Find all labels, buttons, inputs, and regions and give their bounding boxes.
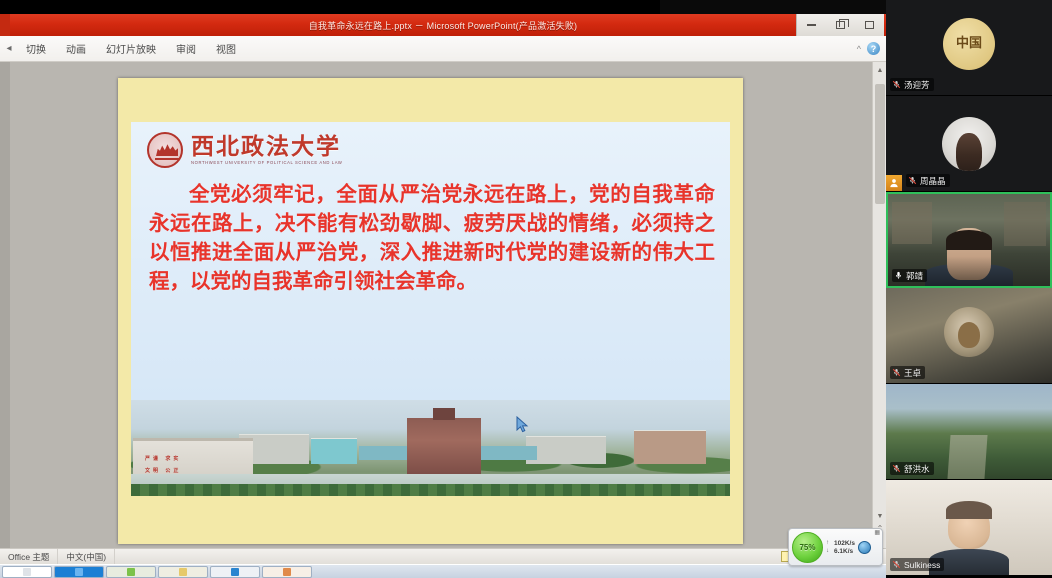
network-settings-button[interactable]	[858, 541, 871, 554]
scrollbar-thumb[interactable]	[875, 84, 885, 204]
ribbon-scroll-left-icon[interactable]: ◂	[0, 43, 16, 54]
campus-motto-line-1: 严谨 求实	[145, 455, 181, 462]
minimize-button[interactable]	[801, 17, 823, 33]
window-top-edge-right	[660, 0, 886, 14]
university-name-en: NORTHWEST UNIVERSITY OF POLITICAL SCIENC…	[191, 160, 342, 165]
university-logo: 西北政法大学 NORTHWEST UNIVERSITY OF POLITICAL…	[147, 132, 342, 168]
muted-mic-icon	[892, 368, 901, 377]
participant-name-chip-2: 周晶晶	[906, 174, 950, 187]
title-bar[interactable]: 自我革命永远在路上.pptx － Microsoft PowerPoint(产品…	[0, 14, 886, 36]
network-rates: ↑ 102K/s ↓ 6.1K/s	[826, 540, 855, 555]
cpu-usage-gauge: 75%	[792, 532, 823, 563]
participant-name-chip-1: 汤迎芳	[890, 78, 934, 91]
video-participant-panel: 中国 汤迎芳	[886, 0, 1052, 578]
campus-main-gate	[407, 418, 481, 474]
windows-taskbar	[0, 564, 886, 578]
participant-name-5: 舒洪水	[904, 463, 930, 475]
download-rate-row: ↓ 6.1K/s	[826, 548, 855, 555]
participant-name-1: 汤迎芳	[904, 79, 930, 91]
tab-slideshow[interactable]: 幻灯片放映	[96, 38, 166, 59]
help-icon[interactable]: ?	[867, 42, 880, 55]
video-tile-participant-6[interactable]: Sulkiness	[886, 480, 1052, 576]
upload-arrow-icon: ↑	[826, 540, 831, 546]
campus-building-3	[526, 436, 606, 464]
participant-name-chip-3: 郭靖	[892, 269, 927, 282]
participant-hair	[946, 501, 992, 519]
taskbar-item-1[interactable]	[2, 566, 52, 578]
status-language[interactable]: 中文(中国)	[58, 549, 115, 565]
title-bar-left-accent	[0, 14, 10, 36]
ribbon-right-controls: ^ ?	[857, 42, 886, 55]
pin-icon[interactable]: ▦	[874, 529, 880, 536]
window-title: 自我革命永远在路上.pptx － Microsoft PowerPoint(产品…	[309, 19, 578, 32]
upload-rate-row: ↑ 102K/s	[826, 540, 855, 547]
dog-avatar	[944, 307, 994, 357]
restore-button[interactable]	[830, 17, 852, 33]
participant-name-4: 王卓	[904, 367, 921, 379]
taskbar-item-3[interactable]	[106, 566, 156, 578]
system-monitor-widget[interactable]: ▦ 75% ↑ 102K/s ↓ 6.1K/s	[788, 528, 883, 566]
download-arrow-icon: ↓	[826, 548, 831, 554]
scroll-down-icon[interactable]: ▼	[875, 512, 885, 522]
host-badge-icon	[886, 175, 902, 191]
scroll-up-icon[interactable]: ▲	[875, 66, 885, 76]
person-icon	[889, 178, 899, 188]
thumbnail-pane-edge	[0, 62, 10, 548]
woman-photo-avatar	[942, 117, 996, 171]
screen: 自我革命永远在路上.pptx － Microsoft PowerPoint(产品…	[0, 0, 1052, 578]
campus-motto-line-2: 文明 公正	[145, 467, 181, 474]
participant-name-6: Sulkiness	[904, 560, 940, 570]
status-bar: Office 主题 中文(中国) 85%	[0, 548, 886, 564]
muted-mic-icon	[892, 464, 901, 473]
status-theme[interactable]: Office 主题	[0, 549, 58, 565]
video-tile-participant-5[interactable]: 舒洪水	[886, 384, 1052, 480]
close-button[interactable]	[859, 17, 881, 33]
vertical-scrollbar[interactable]: ▲ ▼ ⌃ ⌄	[872, 62, 886, 548]
window-top-edge	[0, 0, 886, 14]
video-tile-participant-3[interactable]: 郭靖	[886, 192, 1052, 288]
participant-name-chip-4: 王卓	[890, 366, 925, 379]
taskbar-item-6[interactable]	[262, 566, 312, 578]
taskbar-item-4[interactable]	[158, 566, 208, 578]
participant-name-3: 郭靖	[906, 270, 923, 282]
campus-building-2	[311, 438, 357, 464]
video-tile-participant-1[interactable]: 中国 汤迎芳	[886, 0, 1052, 96]
tab-view[interactable]: 视图	[206, 38, 246, 59]
muted-mic-icon	[908, 176, 917, 185]
speaker-hair	[946, 230, 992, 250]
slide-body-text: 全党必须牢记，全面从严治党永远在路上，党的自我革命永远在路上，决不能有松劲歇脚、…	[149, 180, 715, 296]
taskbar-item-2[interactable]	[54, 566, 104, 578]
participant-name-chip-5: 舒洪水	[890, 462, 934, 475]
slide-surface[interactable]: 西北政法大学 NORTHWEST UNIVERSITY OF POLITICAL…	[118, 78, 743, 544]
upload-rate-value: 102K/s	[834, 540, 855, 547]
university-seal-icon	[147, 132, 183, 168]
nature-path	[948, 435, 988, 479]
participant-name-2: 周晶晶	[920, 175, 946, 187]
tab-transitions[interactable]: 切换	[16, 38, 56, 59]
china-seal-avatar: 中国	[943, 18, 995, 70]
background-shelf-right	[1004, 202, 1046, 246]
muted-mic-icon	[892, 80, 901, 89]
download-rate-value: 6.1K/s	[834, 548, 853, 555]
tab-animations[interactable]: 动画	[56, 38, 96, 59]
campus-gate-wing-right	[481, 446, 537, 460]
background-shelf-left	[892, 202, 932, 244]
window-controls	[796, 14, 884, 36]
video-tile-participant-4[interactable]: 王卓	[886, 288, 1052, 384]
ribbon-tab-bar: ◂ 切换 动画 幻灯片放映 审阅 视图 ^ ?	[0, 36, 886, 62]
tab-review[interactable]: 审阅	[166, 38, 206, 59]
campus-hedge	[131, 484, 730, 496]
campus-building-4	[634, 430, 706, 464]
powerpoint-window: 自我革命永远在路上.pptx － Microsoft PowerPoint(产品…	[0, 0, 886, 578]
university-name-cn: 西北政法大学	[191, 135, 342, 158]
participant-name-chip-6: Sulkiness	[890, 558, 944, 571]
video-tile-participant-2[interactable]: 周晶晶	[886, 96, 1052, 192]
taskbar-item-5[interactable]	[210, 566, 260, 578]
mic-icon	[894, 271, 903, 280]
campus-photo: 严谨 求实 文明 公正	[131, 400, 730, 496]
slide-content-area: 西北政法大学 NORTHWEST UNIVERSITY OF POLITICAL…	[131, 122, 730, 496]
university-name-block: 西北政法大学 NORTHWEST UNIVERSITY OF POLITICAL…	[191, 135, 342, 165]
muted-mic-icon	[892, 560, 901, 569]
minimize-ribbon-icon[interactable]: ^	[857, 44, 861, 54]
slide-editing-canvas[interactable]: 西北政法大学 NORTHWEST UNIVERSITY OF POLITICAL…	[0, 62, 886, 548]
